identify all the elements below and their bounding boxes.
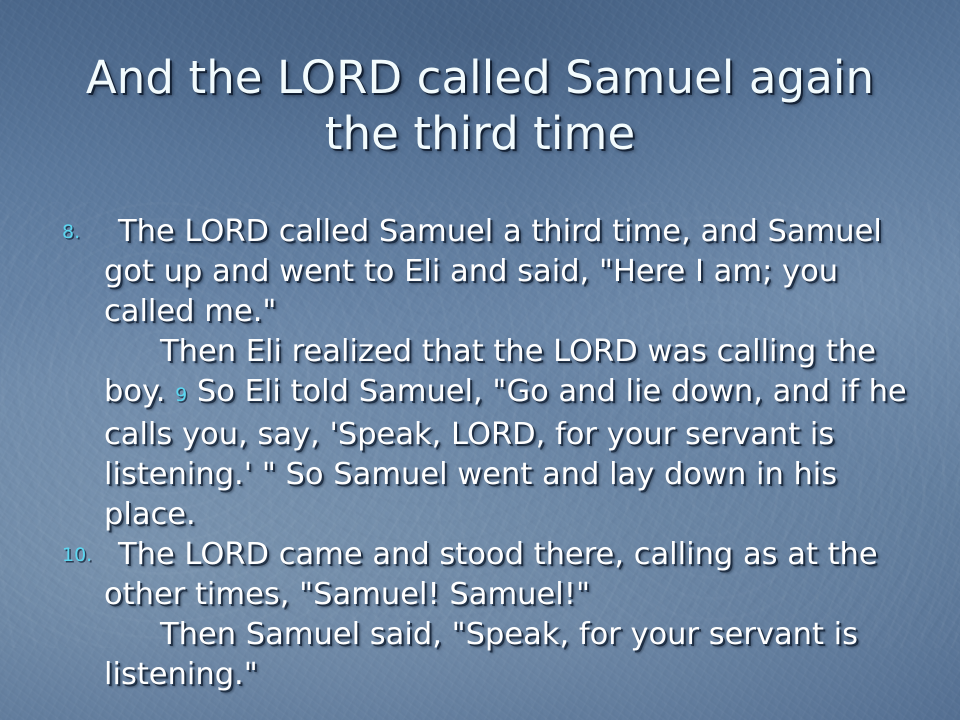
slide-body: 8. The LORD called Samuel a third time, … <box>58 212 924 695</box>
list-item-text: The LORD came and stood there, calling a… <box>104 535 924 615</box>
list-item-body: The LORD came and stood there, calling a… <box>104 537 878 612</box>
list-item: 10. The LORD came and stood there, calli… <box>58 535 924 615</box>
slide-title-text: And the LORD called Samuel again the thi… <box>36 50 924 162</box>
list-item-text: The LORD called Samuel a third time, and… <box>104 212 924 332</box>
paragraph-text: Then Samuel said, "Speak, for your serva… <box>104 617 858 692</box>
list-item: 8. The LORD called Samuel a third time, … <box>58 212 924 332</box>
paragraph-closing: Then Samuel said, "Speak, for your serva… <box>104 615 924 695</box>
paragraph-verse-9: Then Eli realized that the LORD was call… <box>104 332 924 535</box>
inline-verse-number: 9 <box>175 384 187 406</box>
presentation-slide: And the LORD called Samuel again the thi… <box>0 0 960 720</box>
list-item-number: 8. <box>58 212 104 252</box>
slide-title: And the LORD called Samuel again the thi… <box>36 50 924 162</box>
list-item-number: 10. <box>58 535 104 575</box>
list-item-body: The LORD called Samuel a third time, and… <box>104 214 882 329</box>
paragraph-text-after-verse: So Eli told Samuel, "Go and lie down, an… <box>104 374 907 532</box>
